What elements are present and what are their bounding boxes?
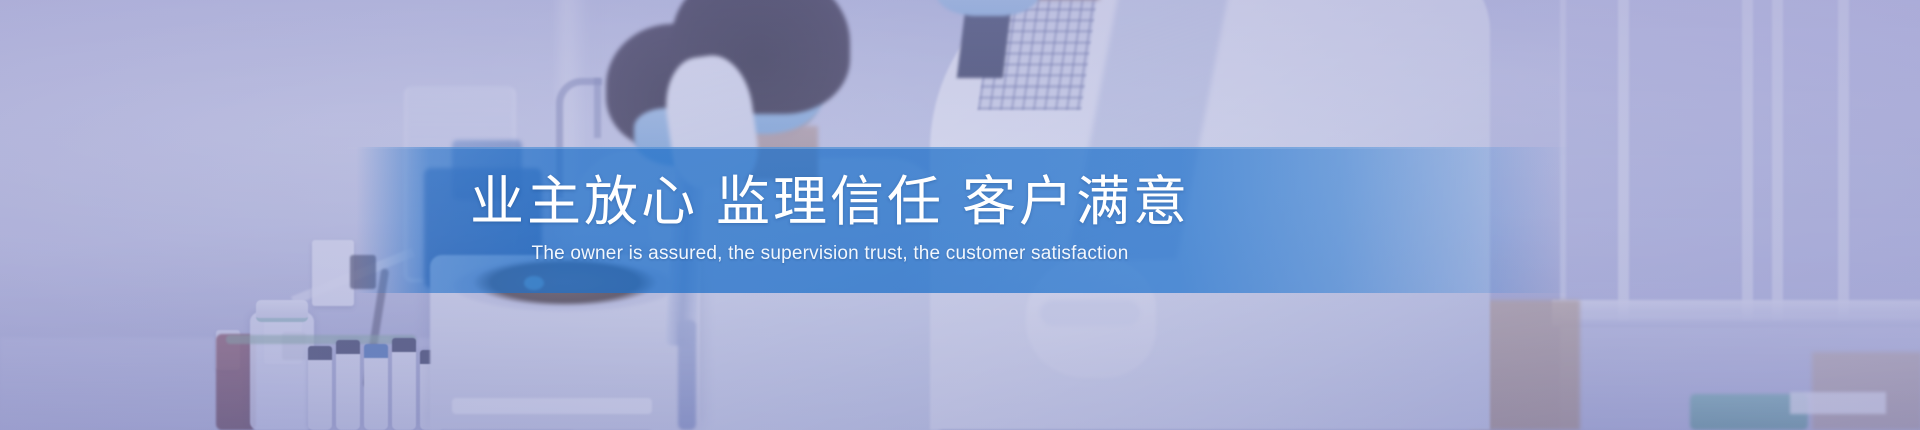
banner-subheadline: The owner is assured, the supervision tr… — [280, 242, 1380, 266]
banner-headline: 业主放心 监理信任 客户满意 — [280, 174, 1380, 231]
caption-text-block: 业主放心 监理信任 客户满意 The owner is assured, the… — [280, 174, 1380, 266]
hero-banner: 业主放心 监理信任 客户满意 The owner is assured, the… — [0, 0, 1920, 430]
caption-overlay-bar: 业主放心 监理信任 客户满意 The owner is assured, the… — [0, 147, 1920, 293]
